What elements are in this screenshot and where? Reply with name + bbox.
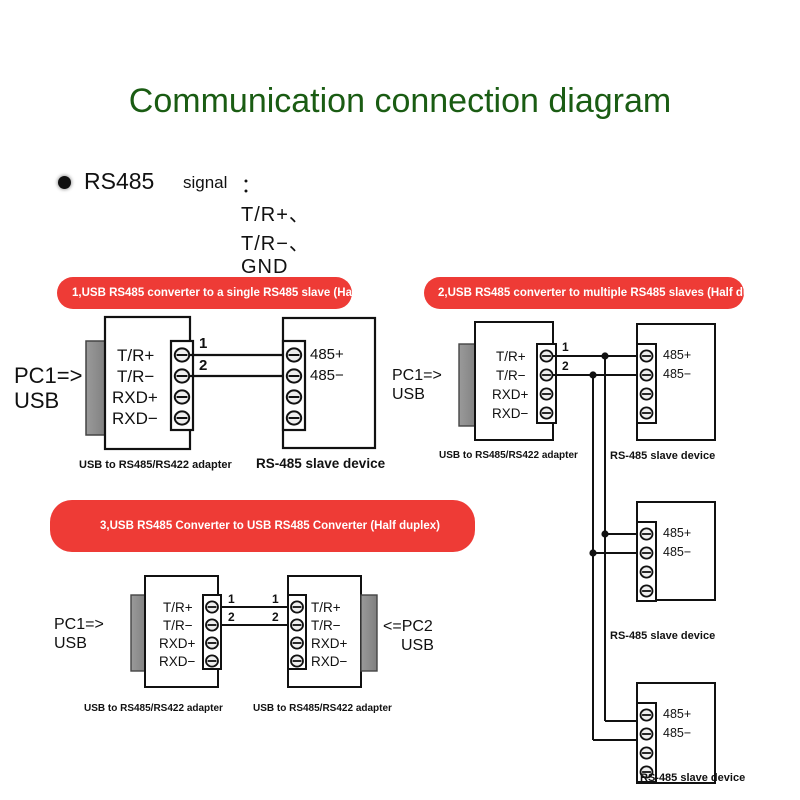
d2-pin-tr-plus: T/R+ <box>496 349 526 364</box>
d2-slave3-pin-485-plus: 485+ <box>663 707 691 721</box>
d1-adapter-caption: USB to RS485/RS422 adapter <box>79 459 232 471</box>
section-banner-3[interactable]: 3,USB RS485 Converter to USB RS485 Conve… <box>50 500 475 552</box>
d2-wire-number-2: 2 <box>562 359 569 373</box>
d3-right-pin-tr-plus: T/R+ <box>311 600 341 615</box>
d2-slave1-pin-485-plus: 485+ <box>663 348 691 362</box>
signal-word: signal <box>183 173 227 193</box>
d2-slave2-pin-485-plus: 485+ <box>663 526 691 540</box>
d2-usb-label: USB <box>392 385 425 404</box>
d3-right-wire-number-2: 2 <box>272 610 279 624</box>
d3-pc2-label: <=PC2 <box>383 617 433 636</box>
d3-left-usb-label: USB <box>54 634 87 653</box>
d2-slave2-caption: RS-485 slave device <box>610 630 715 642</box>
d1-pc1-label: PC1=> <box>14 363 83 388</box>
d3-right-pin-rxd-minus: RXD− <box>311 654 347 669</box>
page-title: Communication connection diagram <box>0 82 800 121</box>
d1-wire-number-2: 2 <box>199 357 207 374</box>
d2-slave3-caption: RS-485 slave device <box>640 772 745 784</box>
signal-values: ： T/R+、 T/R−、 GND <box>241 169 310 279</box>
diagram-canvas: Communication connection diagram RS485 s… <box>0 0 800 800</box>
d3-left-pin-tr-minus: T/R− <box>163 618 193 633</box>
d3-left-wire-number-2: 2 <box>228 610 235 624</box>
d2-slave2-pin-485-minus: 485− <box>663 545 691 559</box>
bullet-dot-icon <box>58 176 71 189</box>
d2-slave1-caption: RS-485 slave device <box>610 450 715 462</box>
d1-pin-tr-minus: T/R− <box>117 367 154 387</box>
d1-wire-number-1: 1 <box>199 335 207 352</box>
d1-slave-pin-485-plus: 485+ <box>310 346 344 363</box>
d1-pin-tr-plus: T/R+ <box>117 346 154 366</box>
d1-pin-rxd-minus: RXD− <box>112 409 158 429</box>
d2-slave3-pin-485-minus: 485− <box>663 726 691 740</box>
d2-pin-rxd-plus: RXD+ <box>492 387 528 402</box>
d3-left-pin-rxd-minus: RXD− <box>159 654 195 669</box>
d3-right-wire-number-1: 1 <box>272 592 279 606</box>
d3-left-pin-rxd-plus: RXD+ <box>159 636 195 651</box>
d2-wire-number-1: 1 <box>562 340 569 354</box>
d1-usb-label: USB <box>14 388 59 413</box>
d2-slave1-pin-485-minus: 485− <box>663 367 691 381</box>
d3-right-pin-rxd-plus: RXD+ <box>311 636 347 651</box>
d2-pin-rxd-minus: RXD− <box>492 406 528 421</box>
signal-prefix: RS485 <box>84 168 154 195</box>
section-banner-1[interactable]: 1,USB RS485 converter to a single RS485 … <box>57 277 352 309</box>
d2-pc1-label: PC1=> <box>392 366 442 385</box>
d3-pc1-label: PC1=> <box>54 615 104 634</box>
d3-left-caption: USB to RS485/RS422 adapter <box>84 703 223 714</box>
d3-right-usb-label: USB <box>401 636 434 655</box>
d1-slave-pin-485-minus: 485− <box>310 367 344 384</box>
d2-adapter-caption: USB to RS485/RS422 adapter <box>439 450 578 461</box>
d1-pin-rxd-plus: RXD+ <box>112 388 158 408</box>
d3-right-caption: USB to RS485/RS422 adapter <box>253 703 392 714</box>
d1-slave-caption: RS-485 slave device <box>256 456 385 471</box>
d3-left-pin-tr-plus: T/R+ <box>163 600 193 615</box>
d3-left-wire-number-1: 1 <box>228 592 235 606</box>
d2-pin-tr-minus: T/R− <box>496 368 526 383</box>
section-banner-2[interactable]: 2,USB RS485 converter to multiple RS485 … <box>424 277 744 309</box>
d3-right-pin-tr-minus: T/R− <box>311 618 341 633</box>
